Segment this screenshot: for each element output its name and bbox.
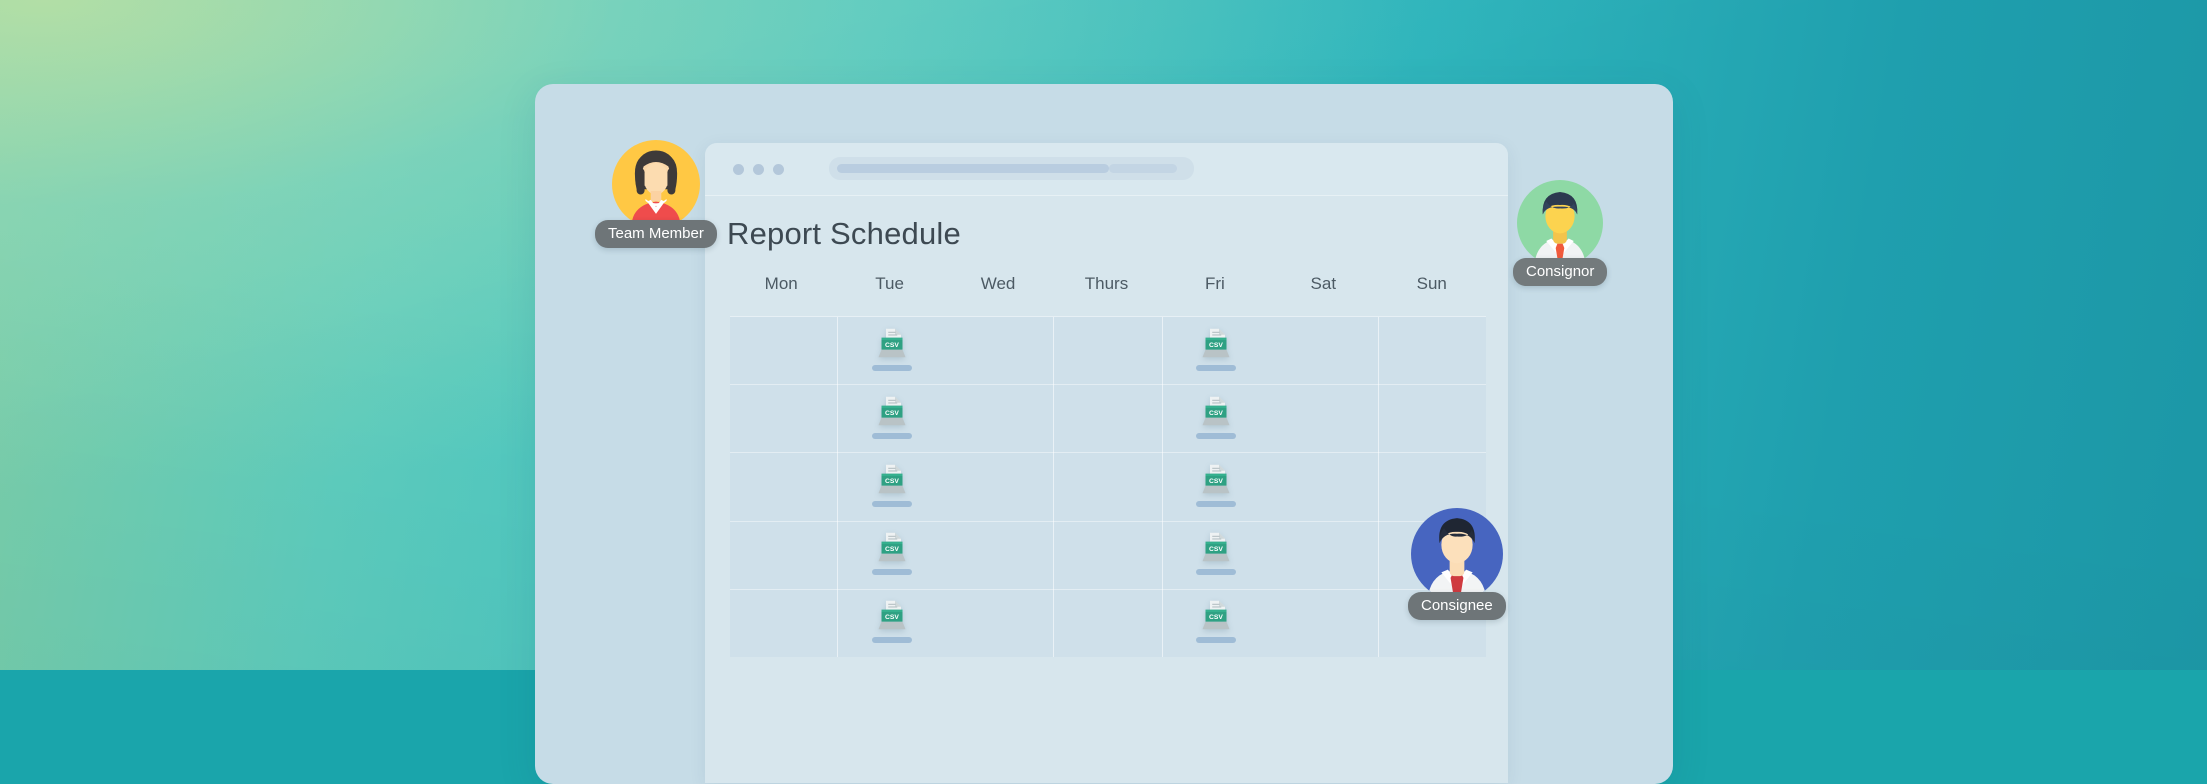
scheduled-report-event[interactable]: CSV (1196, 531, 1236, 575)
csv-file-icon: CSV (1201, 327, 1231, 359)
calendar-day-label-wed: Wed (944, 274, 1052, 304)
address-bar-text-placeholder-secondary (1109, 164, 1177, 173)
csv-file-icon: CSV (1201, 463, 1231, 495)
calendar-cell-fri-2[interactable]: CSV (1162, 385, 1270, 452)
calendar-cell-wed-3[interactable] (946, 453, 1054, 520)
browser-content-area: Report Schedule MonTueWedThursFriSatSun … (705, 196, 1508, 783)
svg-text:CSV: CSV (1209, 410, 1223, 417)
calendar-cell-sat-2[interactable] (1270, 385, 1378, 452)
calendar-cell-thurs-3[interactable] (1054, 453, 1162, 520)
calendar-day-label-sun: Sun (1378, 274, 1486, 304)
calendar-cell-wed-1[interactable] (946, 317, 1054, 384)
calendar-cell-sat-5[interactable] (1270, 590, 1378, 657)
event-title-bar (1196, 501, 1236, 507)
avatar-consignee-image (1411, 508, 1503, 600)
page-title: Report Schedule (727, 216, 961, 252)
scheduled-report-event[interactable]: CSV (872, 463, 912, 507)
calendar-cell-sat-4[interactable] (1270, 522, 1378, 589)
calendar-cell-tue-1[interactable]: CSV (838, 317, 946, 384)
event-title-bar (1196, 569, 1236, 575)
scheduled-report-event[interactable]: CSV (872, 327, 912, 371)
svg-text:CSV: CSV (885, 341, 899, 348)
address-bar-input[interactable] (829, 157, 1194, 180)
event-title-bar (1196, 365, 1236, 371)
calendar-row: CSVCSV (730, 522, 1486, 590)
calendar-cell-tue-2[interactable]: CSV (838, 385, 946, 452)
svg-text:CSV: CSV (1209, 546, 1223, 553)
event-title-bar (1196, 433, 1236, 439)
calendar-cell-mon-4[interactable] (730, 522, 838, 589)
avatar-team-member[interactable]: Team Member (595, 140, 717, 248)
calendar-cell-mon-3[interactable] (730, 453, 838, 520)
calendar-day-label-thurs: Thurs (1052, 274, 1160, 304)
calendar-cell-sun-2[interactable] (1378, 385, 1486, 452)
avatar-consignor-label: Consignor (1513, 258, 1607, 286)
csv-file-icon: CSV (877, 463, 907, 495)
csv-file-icon: CSV (1201, 531, 1231, 563)
calendar-row: CSVCSV (730, 453, 1486, 521)
calendar-day-label-mon: Mon (727, 274, 835, 304)
csv-file-icon: CSV (1201, 395, 1231, 427)
svg-text:CSV: CSV (1209, 614, 1223, 621)
scheduled-report-event[interactable]: CSV (1196, 599, 1236, 643)
window-controls[interactable] (733, 164, 784, 175)
calendar-cell-wed-4[interactable] (946, 522, 1054, 589)
calendar-cell-tue-5[interactable]: CSV (838, 590, 946, 657)
event-title-bar (872, 365, 912, 371)
window-close-dot-icon[interactable] (733, 164, 744, 175)
scheduled-report-event[interactable]: CSV (1196, 463, 1236, 507)
calendar-cell-fri-5[interactable]: CSV (1162, 590, 1270, 657)
svg-text:CSV: CSV (885, 546, 899, 553)
scheduled-report-event[interactable]: CSV (1196, 395, 1236, 439)
calendar-cell-tue-3[interactable]: CSV (838, 453, 946, 520)
calendar-cell-mon-2[interactable] (730, 385, 838, 452)
scheduled-report-event[interactable]: CSV (872, 531, 912, 575)
svg-text:CSV: CSV (1209, 341, 1223, 348)
man-avatar-icon (1411, 508, 1503, 600)
avatar-consignee[interactable]: Consignee (1408, 508, 1506, 620)
csv-file-icon: CSV (877, 531, 907, 563)
avatar-consignor[interactable]: Consignor (1513, 180, 1607, 286)
calendar-row: CSVCSV (730, 590, 1486, 657)
calendar-cell-fri-3[interactable]: CSV (1162, 453, 1270, 520)
svg-text:CSV: CSV (1209, 478, 1223, 485)
browser-window: Report Schedule MonTueWedThursFriSatSun … (705, 143, 1508, 783)
report-schedule-calendar: MonTueWedThursFriSatSun CSVCSVCSVCSVCSVC… (705, 274, 1508, 657)
calendar-cell-sat-1[interactable] (1270, 317, 1378, 384)
calendar-cell-tue-4[interactable]: CSV (838, 522, 946, 589)
calendar-cell-sat-3[interactable] (1270, 453, 1378, 520)
calendar-cell-sun-1[interactable] (1378, 317, 1486, 384)
scheduled-report-event[interactable]: CSV (872, 395, 912, 439)
browser-chrome-bar (705, 143, 1508, 196)
csv-file-icon: CSV (877, 327, 907, 359)
calendar-day-label-sat: Sat (1269, 274, 1377, 304)
csv-file-icon: CSV (877, 599, 907, 631)
csv-file-icon: CSV (877, 395, 907, 427)
svg-text:CSV: CSV (885, 614, 899, 621)
calendar-cell-thurs-5[interactable] (1054, 590, 1162, 657)
calendar-cell-thurs-2[interactable] (1054, 385, 1162, 452)
avatar-team-member-label: Team Member (595, 220, 717, 248)
scheduled-report-event[interactable]: CSV (872, 599, 912, 643)
calendar-day-header: MonTueWedThursFriSatSun (705, 274, 1508, 304)
avatar-consignor-image (1517, 180, 1603, 266)
csv-file-icon: CSV (1201, 599, 1231, 631)
window-minimize-dot-icon[interactable] (753, 164, 764, 175)
calendar-cell-thurs-4[interactable] (1054, 522, 1162, 589)
avatar-team-member-image (612, 140, 700, 228)
calendar-cell-wed-2[interactable] (946, 385, 1054, 452)
calendar-cell-wed-5[interactable] (946, 590, 1054, 657)
svg-text:CSV: CSV (885, 478, 899, 485)
event-title-bar (872, 501, 912, 507)
calendar-cell-fri-1[interactable]: CSV (1162, 317, 1270, 384)
calendar-cell-mon-1[interactable] (730, 317, 838, 384)
event-title-bar (872, 569, 912, 575)
woman-avatar-icon (612, 140, 700, 228)
address-bar-text-placeholder (837, 164, 1109, 173)
calendar-row: CSVCSV (730, 317, 1486, 385)
scheduled-report-event[interactable]: CSV (1196, 327, 1236, 371)
calendar-cell-fri-4[interactable]: CSV (1162, 522, 1270, 589)
event-title-bar (872, 433, 912, 439)
calendar-day-label-fri: Fri (1161, 274, 1269, 304)
event-title-bar (1196, 637, 1236, 643)
event-title-bar (872, 637, 912, 643)
calendar-row: CSVCSV (730, 385, 1486, 453)
calendar-cell-mon-5[interactable] (730, 590, 838, 657)
calendar-cell-thurs-1[interactable] (1054, 317, 1162, 384)
avatar-consignee-label: Consignee (1408, 592, 1506, 620)
window-maximize-dot-icon[interactable] (773, 164, 784, 175)
calendar-grid: CSVCSVCSVCSVCSVCSVCSVCSVCSVCSV (730, 316, 1486, 657)
calendar-day-label-tue: Tue (835, 274, 943, 304)
man-avatar-icon (1517, 180, 1603, 266)
svg-text:CSV: CSV (885, 410, 899, 417)
